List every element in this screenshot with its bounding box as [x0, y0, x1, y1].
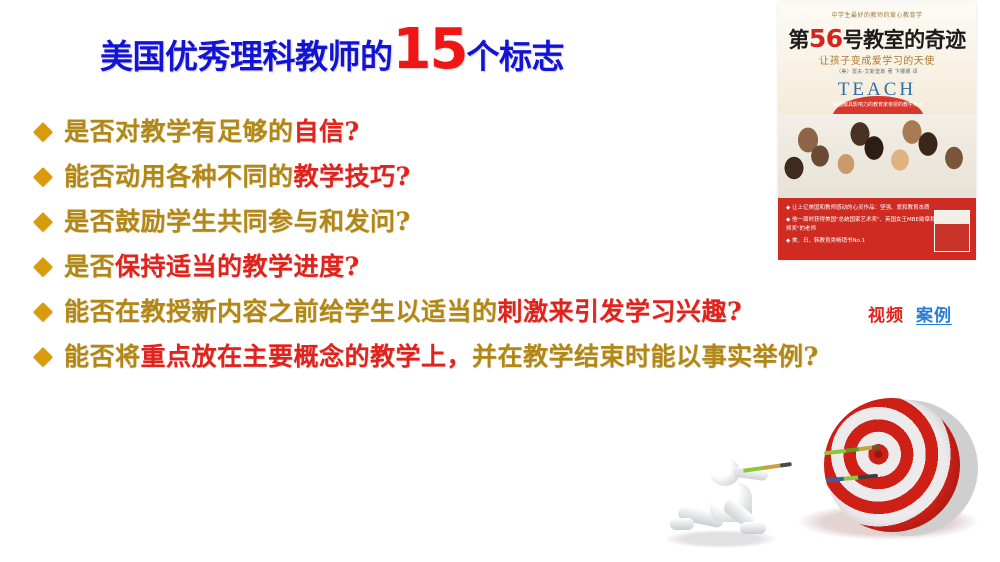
list-item-text: 是否对教学有足够的自信?: [64, 112, 360, 152]
row-link-group: 视频案例: [868, 301, 952, 326]
list-item-gold-tail-text: 并在教学结束时能以事实举例?: [472, 342, 819, 371]
diamond-bullet-icon: [33, 212, 53, 232]
list-item-gold-text: 是否对教学有足够的: [64, 117, 294, 146]
list-item-gold-text: 是否: [64, 252, 115, 281]
list-item-gold-text: 能否在教授新内容之前给学生以适当的: [64, 297, 498, 326]
dartboard-face-icon: [824, 398, 960, 532]
list-item-gold-text: 能否动用各种不同的: [64, 162, 294, 191]
list-item: 能否在教授新内容之前给学生以适当的刺激来引发学习兴趣? 视频案例: [36, 292, 966, 337]
diamond-bullet-icon: [33, 122, 53, 142]
list-item-red-text: 刺激来引发学习兴趣?: [498, 297, 743, 326]
list-item-text: 能否动用各种不同的教学技巧?: [64, 157, 411, 197]
book-cover-image: 中学生最好的教师的爱心教育学 第56号教室的奇迹 让孩子变成爱学习的天使 （美）…: [778, 2, 976, 260]
book-author-line: （美）雷夫·艾斯奎斯 著 卞娜娜 译: [778, 68, 976, 75]
list-item-red-text: 自信?: [294, 117, 360, 146]
list-item-text: 能否将重点放在主要概念的教学上，并在教学结束时能以事实举例?: [64, 337, 819, 377]
page-title: 美国优秀理科教师的15个标志: [100, 22, 620, 84]
list-item-text: 能否在教授新内容之前给学生以适当的刺激来引发学习兴趣?: [64, 292, 742, 332]
case-link[interactable]: 案例: [916, 306, 952, 326]
title-number: 15: [393, 17, 467, 82]
list-item-gold-lead-text: 能否将: [64, 342, 141, 371]
slide-canvas: 美国优秀理科教师的15个标志 是否对教学有足够的自信? 能否动用各种不同的教学技…: [0, 0, 1000, 562]
book-cover-photo: [778, 114, 976, 198]
title-tail-text: 个标志: [466, 37, 564, 76]
book-title: 第56号教室的奇迹: [778, 24, 976, 54]
list-item-red-text: 重点放在主要概念的教学上，: [141, 342, 473, 371]
list-item: 能否将重点放在主要概念的教学上，并在教学结束时能以事实举例?: [36, 337, 966, 382]
diamond-bullet-icon: [33, 257, 53, 277]
list-item-gold-text: 是否鼓励学生共同参与和发问?: [64, 207, 411, 236]
book-title-number: 56: [809, 24, 843, 53]
book-banner: ◆ 让上亿美国和教师感动的心灵作品：坚强、爱和教育本质 ◆ 他一周时获得美国"总…: [778, 198, 976, 260]
list-item-red-text: 教学技巧?: [294, 162, 411, 191]
figure-foot-front: [740, 522, 766, 534]
book-banner-thumbnail: [934, 210, 970, 252]
diamond-bullet-icon: [33, 302, 53, 322]
title-lead-text: 美国优秀理科教师的: [100, 37, 393, 76]
diamond-bullet-icon: [33, 167, 53, 187]
figure-foot-back: [670, 518, 694, 530]
list-item-text: 是否鼓励学生共同参与和发问?: [64, 202, 411, 242]
book-tagline: 中学生最好的教师的爱心教育学: [778, 10, 976, 19]
list-item-red-text: 保持适当的教学进度?: [115, 252, 360, 281]
book-title-tail: 号教室的奇迹: [843, 28, 966, 52]
book-subtitle: 让孩子变成爱学习的天使: [778, 52, 976, 67]
list-item-text: 是否保持适当的教学进度?: [64, 247, 360, 287]
dartboard-graphic: [648, 388, 1000, 562]
video-link[interactable]: 视频: [868, 306, 904, 326]
book-title-lead: 第: [788, 28, 809, 52]
diamond-bullet-icon: [33, 347, 53, 367]
